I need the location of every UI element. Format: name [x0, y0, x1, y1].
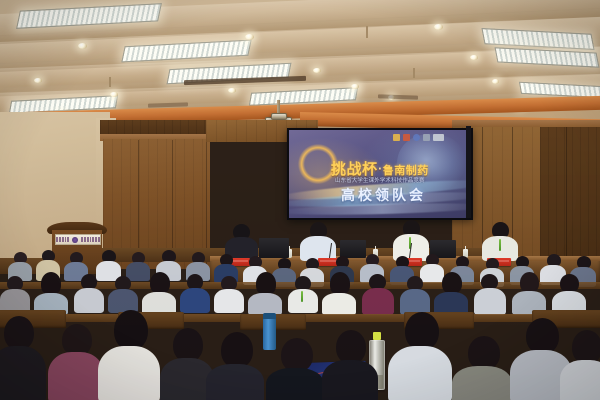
plaque-glyph	[90, 237, 92, 242]
person-head	[520, 272, 539, 293]
person-torso	[322, 360, 378, 400]
screen-event-line2: 高校领队会	[341, 185, 426, 205]
person-torso	[248, 293, 282, 315]
audience-person	[362, 274, 394, 314]
ceiling-hanger-rod	[366, 26, 368, 38]
audience-person	[74, 274, 104, 312]
sponsor-logo-icon	[393, 134, 400, 141]
mug-lid	[263, 313, 276, 319]
laptop[interactable]	[259, 238, 289, 258]
screen-event-subtitle: 山东省大学生课外学术科技作品竞赛	[335, 176, 425, 184]
person-torso	[388, 346, 452, 400]
wall-wood-lintel-right	[452, 120, 600, 127]
person-torso	[474, 288, 506, 315]
sponsor-logo-icon	[403, 134, 410, 141]
person-torso	[288, 289, 318, 313]
person-head	[442, 272, 462, 294]
lanyard	[499, 239, 501, 251]
audience-person-front	[0, 316, 46, 400]
lanyard	[301, 291, 303, 302]
plaque-glyph	[98, 237, 100, 242]
ceiling-downlight	[351, 84, 359, 89]
sponsor-logo-icon	[433, 134, 444, 141]
podium-plaque	[55, 234, 101, 245]
person-head	[526, 318, 559, 354]
person-torso	[322, 293, 356, 315]
ceiling-hanger-rod	[413, 68, 415, 78]
person-head	[281, 338, 313, 372]
person-head	[336, 330, 366, 364]
plaque-glyph	[67, 237, 69, 242]
audience-person-front	[452, 336, 512, 400]
screen-casing-edge	[466, 126, 471, 218]
ceiling-downlight	[245, 34, 254, 40]
person-torso	[0, 346, 46, 400]
audience-person	[0, 276, 30, 312]
audience-person-front	[388, 312, 452, 400]
photo-scene: 挑战杯·鲁南制药 山东省大学生课外学术科技作品竞赛 高校领队会	[0, 0, 600, 400]
audience-person	[248, 272, 282, 314]
ceiling-downlight	[228, 88, 236, 93]
person-head	[256, 272, 276, 295]
audience-person	[142, 272, 176, 314]
person-head	[41, 272, 61, 295]
plaque-glyph	[59, 237, 61, 242]
person-torso	[266, 368, 324, 400]
person-head	[173, 328, 203, 362]
audience-person	[474, 274, 506, 314]
ceiling-downlight	[470, 55, 478, 60]
audience-person	[214, 276, 244, 312]
audience-person	[322, 272, 356, 314]
projection-screen: 挑战杯·鲁南制药 山东省大学生课外学术科技作品竞赛 高校领队会	[287, 128, 473, 220]
person-torso	[180, 288, 210, 313]
person-torso	[98, 346, 160, 400]
person-head	[572, 330, 600, 364]
ceiling-downlight	[313, 68, 321, 73]
audience-person-front	[322, 330, 378, 400]
audience-person	[400, 276, 430, 314]
plaque-glyph	[81, 237, 83, 242]
ceiling-downlight	[492, 79, 499, 84]
person-torso	[362, 288, 394, 315]
audience-person	[288, 276, 318, 312]
audience-person-front	[206, 332, 264, 400]
audience-person	[512, 272, 546, 314]
audience-person	[434, 272, 468, 314]
projector-mount-bracket	[271, 113, 287, 120]
person-head	[114, 310, 148, 350]
wall-wood-panel-far-right	[540, 122, 600, 272]
plaque-glyph	[87, 237, 89, 242]
plaque-glyph	[84, 237, 86, 242]
plaque-glyph	[95, 237, 97, 242]
podium-emblem-icon	[72, 237, 78, 243]
person-head	[405, 312, 439, 350]
plaque-glyph	[56, 237, 58, 242]
ceiling-downlight	[34, 78, 42, 83]
audience-person	[180, 274, 210, 312]
person-torso	[452, 366, 512, 400]
audience-person-front	[98, 310, 160, 400]
audience-person	[108, 276, 138, 312]
audience-person-front	[48, 324, 104, 400]
plaque-glyph	[62, 237, 64, 242]
person-torso	[560, 360, 600, 400]
head-table-person	[300, 222, 336, 260]
ceiling-downlight	[78, 43, 87, 49]
person-head	[330, 272, 350, 295]
ceiling-hanger-rod	[109, 77, 111, 87]
audience-person-front	[266, 338, 324, 400]
person-torso	[48, 352, 104, 400]
sponsor-logo-icon	[413, 134, 420, 141]
person-torso	[214, 289, 244, 313]
sponsor-logo-icon	[423, 134, 430, 141]
wood-panel-seam	[566, 124, 567, 268]
plaque-glyph	[65, 237, 67, 242]
screen-sponsor-logos	[393, 134, 444, 141]
person-head	[221, 332, 253, 368]
person-head	[468, 336, 500, 370]
person-torso	[206, 364, 264, 400]
head-table-person	[482, 222, 518, 260]
plaque-glyph	[92, 237, 94, 242]
audience-person-front	[560, 330, 600, 400]
audience-person	[34, 272, 68, 314]
person-head	[4, 316, 34, 350]
person-head	[150, 272, 170, 294]
ceiling-downlight	[110, 92, 118, 97]
ceiling-downlight	[434, 24, 443, 30]
